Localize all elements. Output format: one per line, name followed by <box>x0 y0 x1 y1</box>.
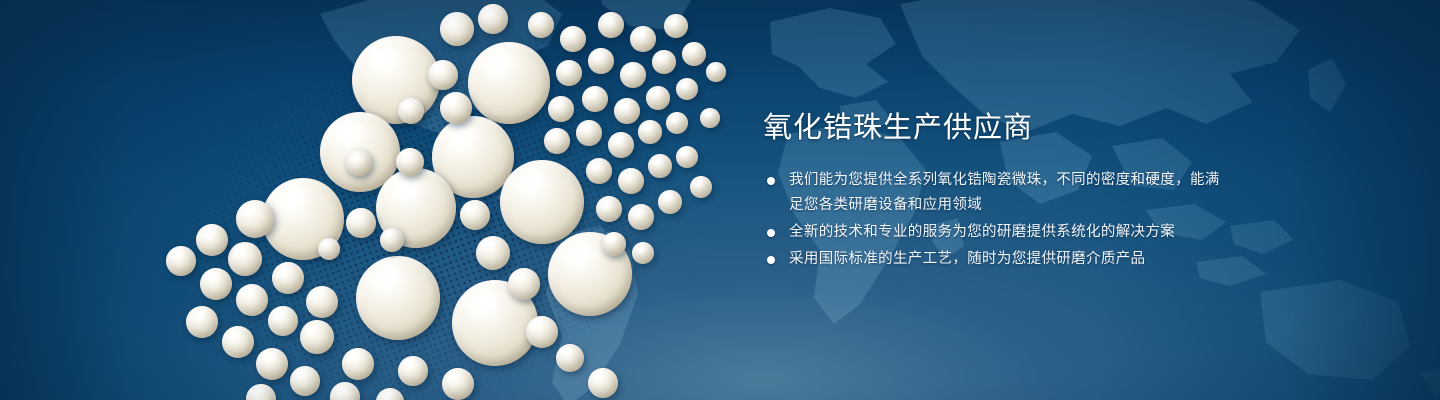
list-item-label: 我们能为您提供全系列氧化锆陶瓷微珠，不同的密度和硬度，能满足您各类研磨设备和应用… <box>789 168 1233 218</box>
feature-list: 我们能为您提供全系列氧化锆陶瓷微珠，不同的密度和硬度，能满足您各类研磨设备和应用… <box>763 168 1233 272</box>
bullet-dot-icon <box>767 177 775 185</box>
bullet-dot-icon <box>767 229 775 237</box>
page-title: 氧化锆珠生产供应商 <box>763 108 1233 148</box>
hero-banner: 氧化锆珠生产供应商 我们能为您提供全系列氧化锆陶瓷微珠，不同的密度和硬度，能满足… <box>0 0 1440 400</box>
list-item: 全新的技术和专业的服务为您的研磨提供系统化的解决方案 <box>763 220 1233 245</box>
list-item-label: 采用国际标准的生产工艺，随时为您提供研磨介质产品 <box>789 247 1233 272</box>
list-item-label: 全新的技术和专业的服务为您的研磨提供系统化的解决方案 <box>789 220 1233 245</box>
list-item: 采用国际标准的生产工艺，随时为您提供研磨介质产品 <box>763 247 1233 272</box>
bullet-dot-icon <box>767 256 775 264</box>
banner-copy: 氧化锆珠生产供应商 我们能为您提供全系列氧化锆陶瓷微珠，不同的密度和硬度，能满足… <box>763 108 1233 274</box>
list-item: 我们能为您提供全系列氧化锆陶瓷微珠，不同的密度和硬度，能满足您各类研磨设备和应用… <box>763 168 1233 218</box>
